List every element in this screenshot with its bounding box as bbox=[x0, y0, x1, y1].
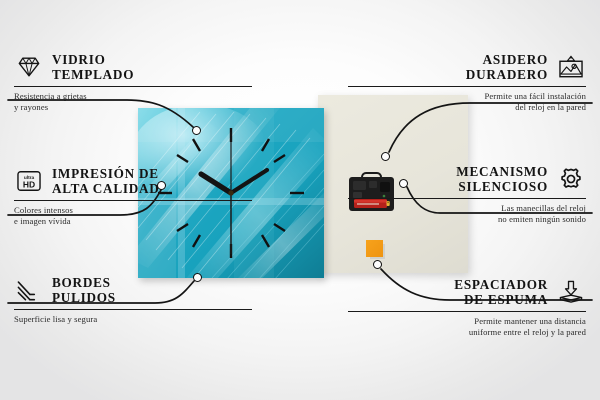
endpoint-dot-vidrio-templado bbox=[192, 126, 201, 135]
feature-description: Colores intensos e imagen vívida bbox=[14, 205, 252, 226]
title-line-1: BORDES bbox=[52, 275, 111, 290]
feature-description: Permite una fácil instalación del reloj … bbox=[348, 91, 586, 112]
foam-spacer bbox=[366, 240, 383, 257]
feature-header: ASIDERO DURADERO bbox=[348, 52, 586, 82]
desc-line-1: Permite mantener una distancia bbox=[474, 316, 586, 326]
ultra-hd-icon: ultra HD bbox=[14, 168, 44, 194]
title-line-1: VIDRIO bbox=[52, 52, 106, 67]
divider bbox=[14, 86, 252, 87]
title-line-2: PULIDOS bbox=[52, 290, 116, 305]
desc-line-2: no emiten ningún sonido bbox=[498, 214, 586, 224]
desc-line-1: Resistencia a grietas bbox=[14, 91, 87, 101]
feature-header: VIDRIO TEMPLADO bbox=[14, 52, 252, 82]
desc-line-1: Permite una fácil instalación bbox=[484, 91, 586, 101]
diamond-icon bbox=[14, 54, 44, 80]
feature-description: Permite mantener una distancia uniforme … bbox=[348, 316, 586, 337]
desc-line-1: Superficie lisa y segura bbox=[14, 314, 97, 324]
feature-header: ultra HD IMPRESIÓN DE ALTA CALIDAD bbox=[14, 166, 252, 196]
desc-line-2: del reloj en la pared bbox=[515, 102, 586, 112]
arrow-onto-layer-icon bbox=[556, 279, 586, 305]
title-line-2: SILENCIOSO bbox=[458, 179, 548, 194]
gear-icon bbox=[556, 166, 586, 192]
title-line-2: DURADERO bbox=[466, 67, 548, 82]
feature-title: VIDRIO TEMPLADO bbox=[52, 52, 134, 82]
title-line-1: MECANISMO bbox=[456, 164, 548, 179]
divider bbox=[14, 200, 252, 201]
title-line-2: ALTA CALIDAD bbox=[52, 181, 160, 196]
svg-text:HD: HD bbox=[23, 180, 35, 190]
feature-impresion-alta-calidad[interactable]: ultra HD IMPRESIÓN DE ALTA CALIDAD Color… bbox=[14, 166, 252, 226]
hanging-picture-frame-icon bbox=[556, 54, 586, 80]
title-line-2: DE ESPUMA bbox=[464, 292, 548, 307]
feature-asidero-duradero[interactable]: ASIDERO DURADERO Permite una fácil insta… bbox=[348, 52, 586, 112]
title-line-1: ESPACIADOR bbox=[454, 277, 548, 292]
feature-title: MECANISMO SILENCIOSO bbox=[456, 164, 548, 194]
desc-line-2: y rayones bbox=[14, 102, 48, 112]
feature-description: Superficie lisa y segura bbox=[14, 314, 252, 325]
diagonal-lines-icon bbox=[14, 277, 44, 303]
desc-line-1: Las manecillas del reloj bbox=[501, 203, 586, 213]
feature-title: IMPRESIÓN DE ALTA CALIDAD bbox=[52, 166, 160, 196]
endpoint-dot-asidero bbox=[381, 152, 390, 161]
feature-vidrio-templado[interactable]: VIDRIO TEMPLADO Resistencia a grietas y … bbox=[14, 52, 252, 112]
feature-header: MECANISMO SILENCIOSO bbox=[348, 164, 586, 194]
feature-header: ESPACIADOR DE ESPUMA bbox=[348, 277, 586, 307]
divider bbox=[14, 309, 252, 310]
desc-line-2: uniforme entre el reloj y la pared bbox=[469, 327, 586, 337]
feature-title: BORDES PULIDOS bbox=[52, 275, 116, 305]
feature-title: ESPACIADOR DE ESPUMA bbox=[454, 277, 548, 307]
title-line-1: ASIDERO bbox=[483, 52, 548, 67]
infographic-canvas: VIDRIO TEMPLADO Resistencia a grietas y … bbox=[0, 0, 600, 400]
divider bbox=[348, 311, 586, 312]
title-line-1: IMPRESIÓN DE bbox=[52, 166, 159, 181]
title-line-2: TEMPLADO bbox=[52, 67, 134, 82]
feature-title: ASIDERO DURADERO bbox=[466, 52, 548, 82]
feature-header: BORDES PULIDOS bbox=[14, 275, 252, 305]
desc-line-2: e imagen vívida bbox=[14, 216, 71, 226]
feature-description: Resistencia a grietas y rayones bbox=[14, 91, 252, 112]
feature-description: Las manecillas del reloj no emiten ningú… bbox=[348, 203, 586, 224]
feature-mecanismo-silencioso[interactable]: MECANISMO SILENCIOSO Las manecillas del … bbox=[348, 164, 586, 224]
divider bbox=[348, 86, 586, 87]
endpoint-dot-espaciador bbox=[373, 260, 382, 269]
desc-line-1: Colores intensos bbox=[14, 205, 73, 215]
feature-bordes-pulidos[interactable]: BORDES PULIDOS Superficie lisa y segura bbox=[14, 275, 252, 325]
feature-espaciador-espuma[interactable]: ESPACIADOR DE ESPUMA Permite mantener un… bbox=[348, 277, 586, 337]
divider bbox=[348, 198, 586, 199]
